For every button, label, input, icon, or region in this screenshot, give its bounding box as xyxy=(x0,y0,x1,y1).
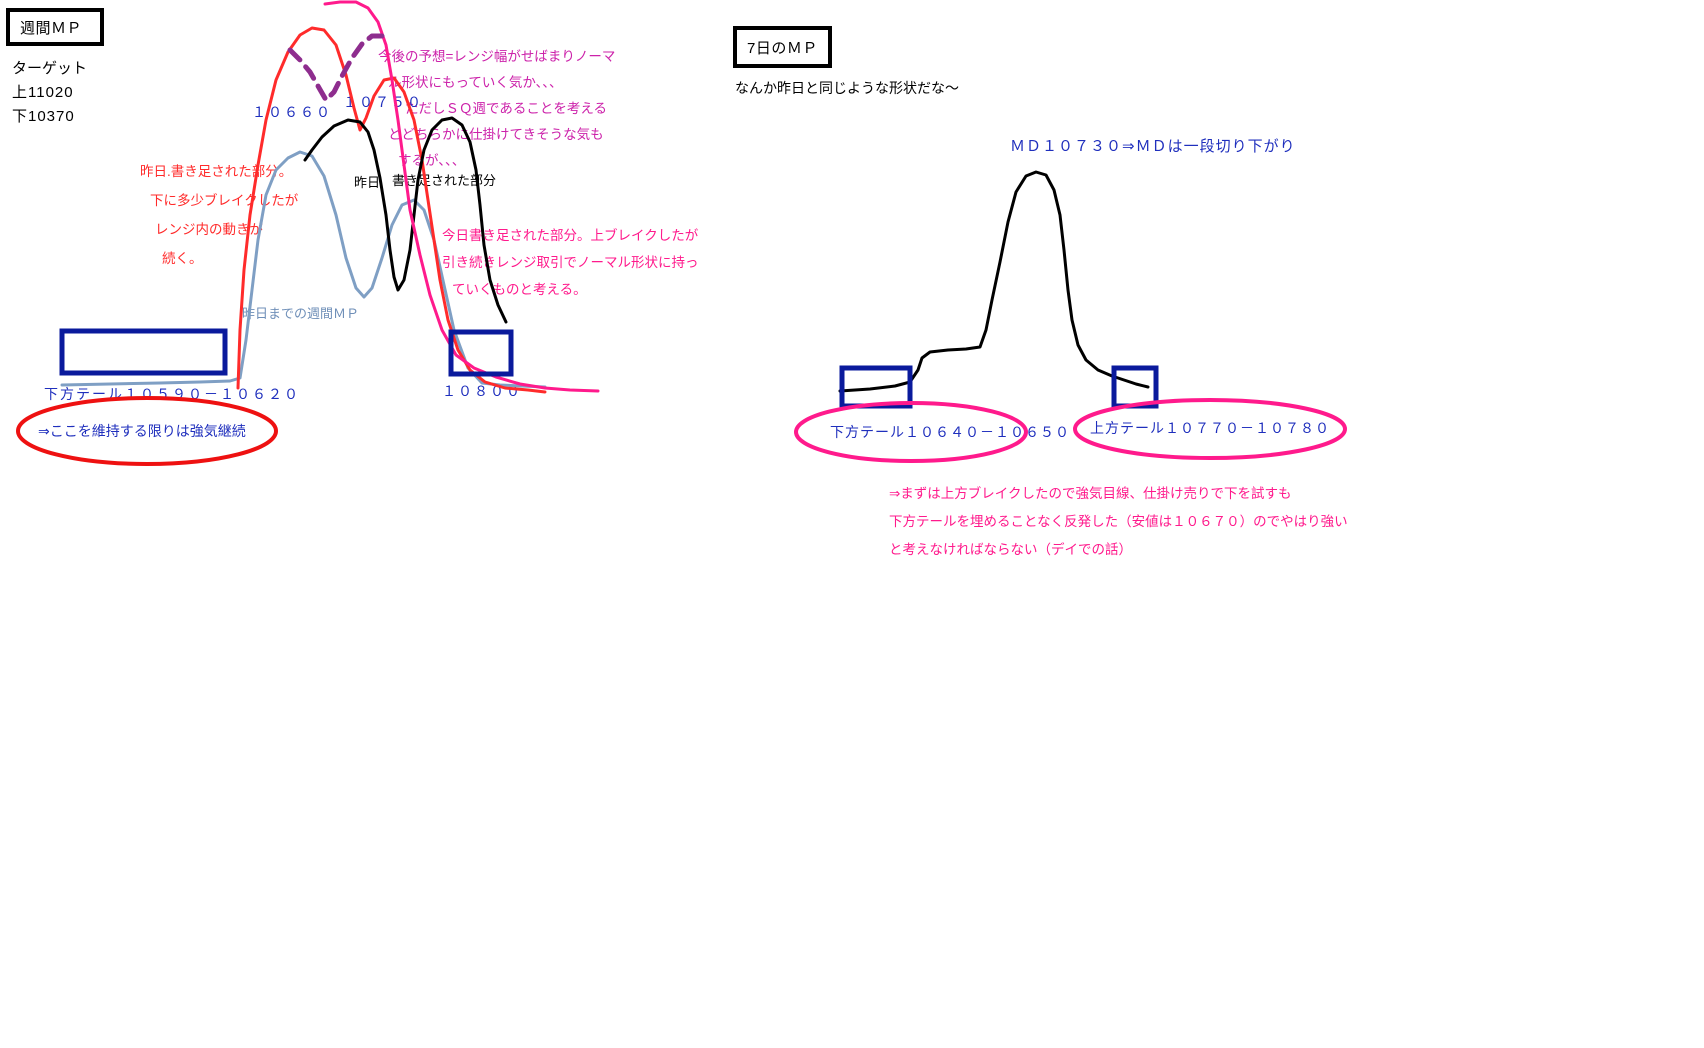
lower-tail-box-left xyxy=(62,331,225,373)
target-heading: ターゲット xyxy=(12,57,87,78)
note-pink-line-2: 引き続きレンジ取引でノーマル形状に持っ xyxy=(442,251,699,271)
note-red-line-2: 下に多少ブレイクしたが xyxy=(150,189,298,213)
note-red-line-4: 続く。 xyxy=(162,247,203,271)
inline-label-added: 書き足された部分 xyxy=(392,170,496,189)
right-panel-subtitle: なんか昨日と同じような形状だな～ xyxy=(735,78,959,98)
peak-label-right: １０７５０ xyxy=(343,92,423,112)
md-label: ＭＤ１０７３０⇒ＭＤは一段切り下がり xyxy=(1010,135,1296,156)
right-panel-title: 7日のＭＰ xyxy=(747,37,818,58)
peak-label-left: １０６６０ xyxy=(252,102,332,122)
lower-tail-box-right xyxy=(842,368,910,406)
profile-curve xyxy=(840,172,1148,391)
upper-tail-box-right xyxy=(1114,368,1156,406)
note-pink-line-3: ていくものと考える。 xyxy=(452,278,587,298)
note-red-line-1: 昨日.書き足された部分。 xyxy=(140,160,292,184)
drawing-canvas: 週間ＭＰ ターゲット 上11020 下10370 昨日.書き足された部分。 下に… xyxy=(0,0,1704,1048)
upper-tail-box-left xyxy=(451,332,511,374)
target-lower: 下10370 xyxy=(12,105,75,126)
right-note-line-3: と考えなければならない（デイでの話） xyxy=(889,538,1132,558)
note-purple-line-4: とどちらかに仕掛けてきそうな気も xyxy=(388,123,604,143)
upper-tail-label-right: 上方テール１０７７０－１０７８０ xyxy=(1090,418,1330,438)
profile-curve xyxy=(290,36,382,100)
target-upper: 上11020 xyxy=(12,81,74,102)
note-purple-line-2: ル形状にもっていく気か、、、 xyxy=(388,71,563,91)
lower-tail-label-left: 下方テール１０５９０－１０６２０ xyxy=(44,384,300,404)
note-pink-line-1: 今日書き足された部分。上ブレイクしたが xyxy=(442,224,698,244)
inline-label-yesterday: 昨日 xyxy=(354,172,380,191)
market-profile-drawing xyxy=(0,0,1704,1048)
note-purple-line-5: するが、、、 xyxy=(398,149,465,169)
note-purple-line-1: 今後の予想=レンジ幅がせばまりノーマ xyxy=(378,45,615,65)
legend-prev-week: 昨日までの週間ＭＰ xyxy=(242,303,359,322)
left-ellipse-note: ⇒ここを維持する限りは強気継続 xyxy=(38,421,246,441)
upper-value-label-left: １０８００ xyxy=(442,381,522,401)
right-note-line-1: ⇒まずは上方ブレイクしたので強気目線、仕掛け売りで下を試すも xyxy=(889,482,1292,502)
left-panel-title-box: 週間ＭＰ xyxy=(6,8,104,46)
lower-tail-label-right: 下方テール１０６４０－１０６５０ xyxy=(830,422,1070,442)
note-red-line-3: レンジ内の動きが xyxy=(155,218,263,242)
right-note-line-2: 下方テールを埋めることなく反発した（安値は１０６７０）のでやはり強い xyxy=(889,510,1348,530)
left-panel-title: 週間ＭＰ xyxy=(20,17,82,38)
right-panel-title-box: 7日のＭＰ xyxy=(733,26,832,68)
